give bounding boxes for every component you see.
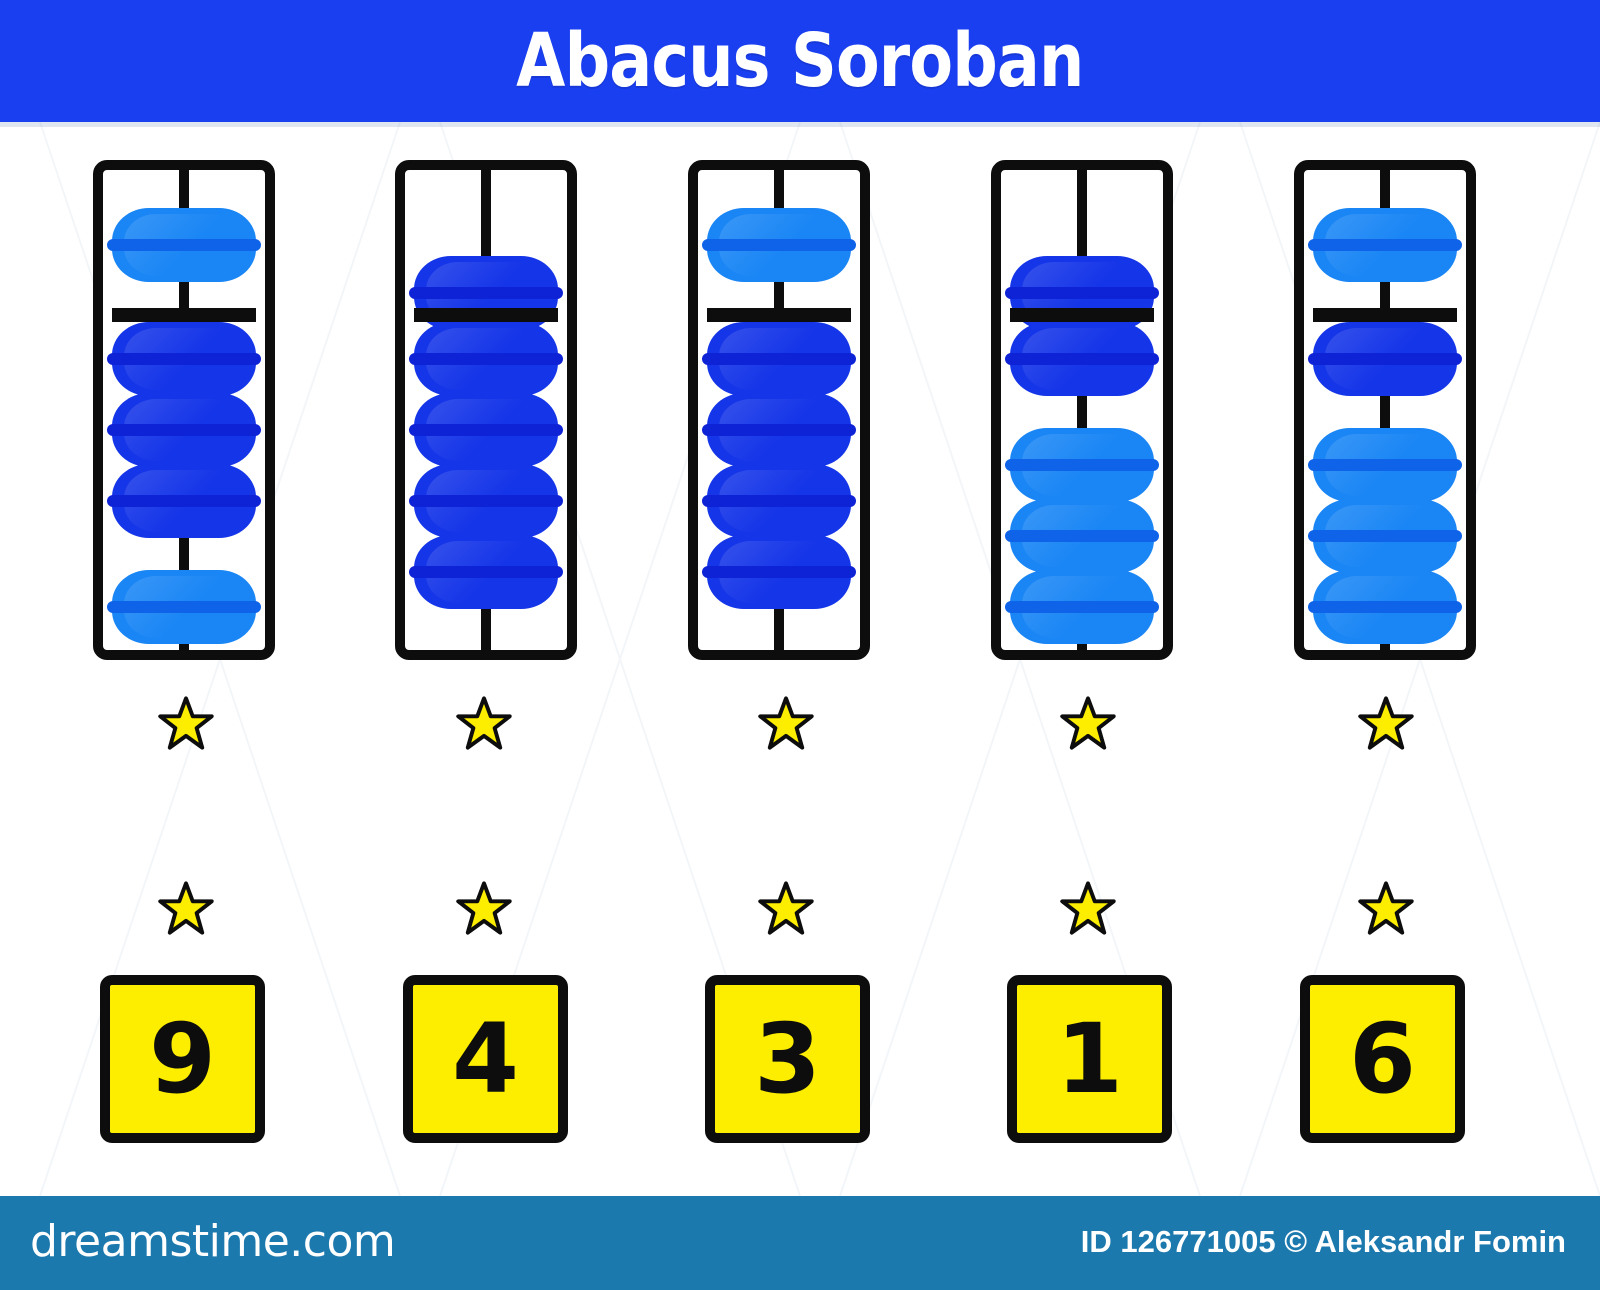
answer-digit: 1 — [1056, 1011, 1123, 1107]
answer-box-2[interactable]: 4 — [403, 975, 568, 1143]
abacus-column-1[interactable] — [93, 160, 275, 660]
reckoning-bar — [1313, 308, 1457, 322]
earth-bead-active[interactable] — [414, 322, 558, 396]
star-icon-lower-5 — [1358, 880, 1414, 936]
answer-digit: 6 — [1349, 1011, 1416, 1107]
answer-box-4[interactable]: 1 — [1007, 975, 1172, 1143]
earth-bead-active[interactable] — [707, 322, 851, 396]
heaven-bead[interactable] — [1313, 208, 1457, 282]
earth-bead-active[interactable] — [414, 464, 558, 538]
earth-bead-active[interactable] — [112, 393, 256, 467]
answer-digit: 4 — [452, 1011, 519, 1107]
earth-bead-active[interactable] — [414, 535, 558, 609]
answer-box-1[interactable]: 9 — [100, 975, 265, 1143]
abacus-column-5[interactable] — [1294, 160, 1476, 660]
reckoning-bar — [112, 308, 256, 322]
earth-bead-inactive[interactable] — [1010, 570, 1154, 644]
star-icon-lower-2 — [456, 880, 512, 936]
earth-bead-inactive[interactable] — [1010, 499, 1154, 573]
star-icon-upper-4 — [1060, 695, 1116, 751]
earth-bead-active[interactable] — [1010, 322, 1154, 396]
earth-bead-active[interactable] — [112, 464, 256, 538]
reckoning-bar — [1010, 308, 1154, 322]
star-icon-upper-3 — [758, 695, 814, 751]
star-icon-lower-3 — [758, 880, 814, 936]
abacus-column-2[interactable] — [395, 160, 577, 660]
earth-bead-inactive[interactable] — [112, 570, 256, 644]
footer-bar: dreamstime.com ID 126771005 © Aleksandr … — [0, 1196, 1600, 1290]
answer-box-5[interactable]: 6 — [1300, 975, 1465, 1143]
earth-bead-inactive[interactable] — [1010, 428, 1154, 502]
abacus-column-4[interactable] — [991, 160, 1173, 660]
answer-digit: 3 — [754, 1011, 821, 1107]
reckoning-bar — [707, 308, 851, 322]
star-icon-upper-5 — [1358, 695, 1414, 751]
star-icon-upper-2 — [456, 695, 512, 751]
answer-row: 94316 — [0, 975, 1600, 1150]
abacus-column-3[interactable] — [688, 160, 870, 660]
abacus-row — [0, 160, 1600, 670]
header-divider — [0, 122, 1600, 127]
image-credit: ID 126771005 © Aleksandr Fomin — [1081, 1224, 1566, 1260]
earth-bead-inactive[interactable] — [1313, 499, 1457, 573]
star-row-upper — [0, 695, 1600, 755]
heaven-bead[interactable] — [112, 208, 256, 282]
earth-bead-active[interactable] — [707, 464, 851, 538]
earth-bead-active[interactable] — [707, 535, 851, 609]
answer-box-3[interactable]: 3 — [705, 975, 870, 1143]
earth-bead-active[interactable] — [112, 322, 256, 396]
earth-bead-active[interactable] — [707, 393, 851, 467]
heaven-bead[interactable] — [707, 208, 851, 282]
earth-bead-inactive[interactable] — [1313, 570, 1457, 644]
earth-bead-inactive[interactable] — [1313, 428, 1457, 502]
star-row-lower — [0, 880, 1600, 940]
answer-digit: 9 — [149, 1011, 216, 1107]
dreamstime-logo: dreamstime.com — [30, 1216, 395, 1267]
star-icon-lower-4 — [1060, 880, 1116, 936]
star-icon-upper-1 — [158, 695, 214, 751]
page-header: Abacus Soroban — [0, 0, 1600, 122]
reckoning-bar — [414, 308, 558, 322]
page-title: Abacus Soroban — [516, 18, 1083, 104]
star-icon-lower-1 — [158, 880, 214, 936]
earth-bead-active[interactable] — [414, 393, 558, 467]
earth-bead-active[interactable] — [1313, 322, 1457, 396]
